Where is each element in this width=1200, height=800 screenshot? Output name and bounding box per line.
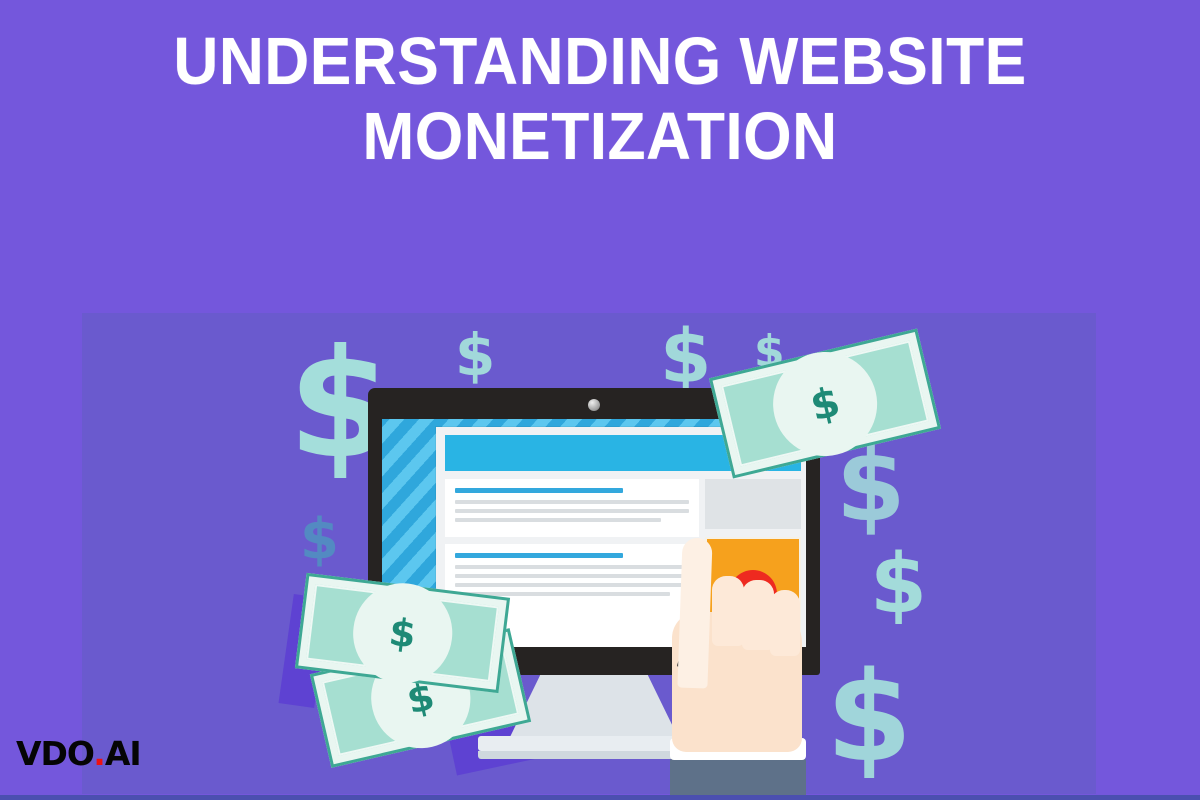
- webcam-icon: [588, 399, 600, 411]
- sleeve: [670, 758, 806, 800]
- index-finger: [677, 538, 712, 689]
- finger: [742, 580, 774, 650]
- text-line: [455, 509, 689, 513]
- dollar-sign-icon: $: [870, 544, 927, 626]
- page-title: UNDERSTANDING WEBSITE MONETIZATION: [42, 24, 1158, 174]
- finger: [712, 576, 744, 646]
- hand-pointer: [640, 520, 830, 800]
- logo-part-2: AI: [105, 734, 141, 773]
- card-heading-bar: [455, 488, 623, 493]
- dollar-sign-icon: $: [300, 512, 339, 568]
- card-heading-bar: [455, 553, 623, 558]
- text-line: [455, 518, 661, 522]
- title-line-1: UNDERSTANDING WEBSITE: [42, 24, 1158, 99]
- text-line: [455, 500, 689, 504]
- banner-canvas: $ $ $ $ $ $ $ $: [0, 0, 1200, 800]
- finger: [770, 590, 800, 656]
- bottom-rule: [0, 795, 1200, 800]
- brand-logo[interactable]: VDO.AI: [16, 734, 141, 773]
- dollar-sign-icon: $: [660, 320, 712, 394]
- logo-dot: .: [93, 734, 105, 773]
- title-line-2: MONETIZATION: [42, 99, 1158, 174]
- dollar-sign-icon: $: [826, 656, 912, 780]
- dollar-sign-icon: $: [455, 326, 495, 384]
- logo-part-1: VDO: [16, 734, 93, 773]
